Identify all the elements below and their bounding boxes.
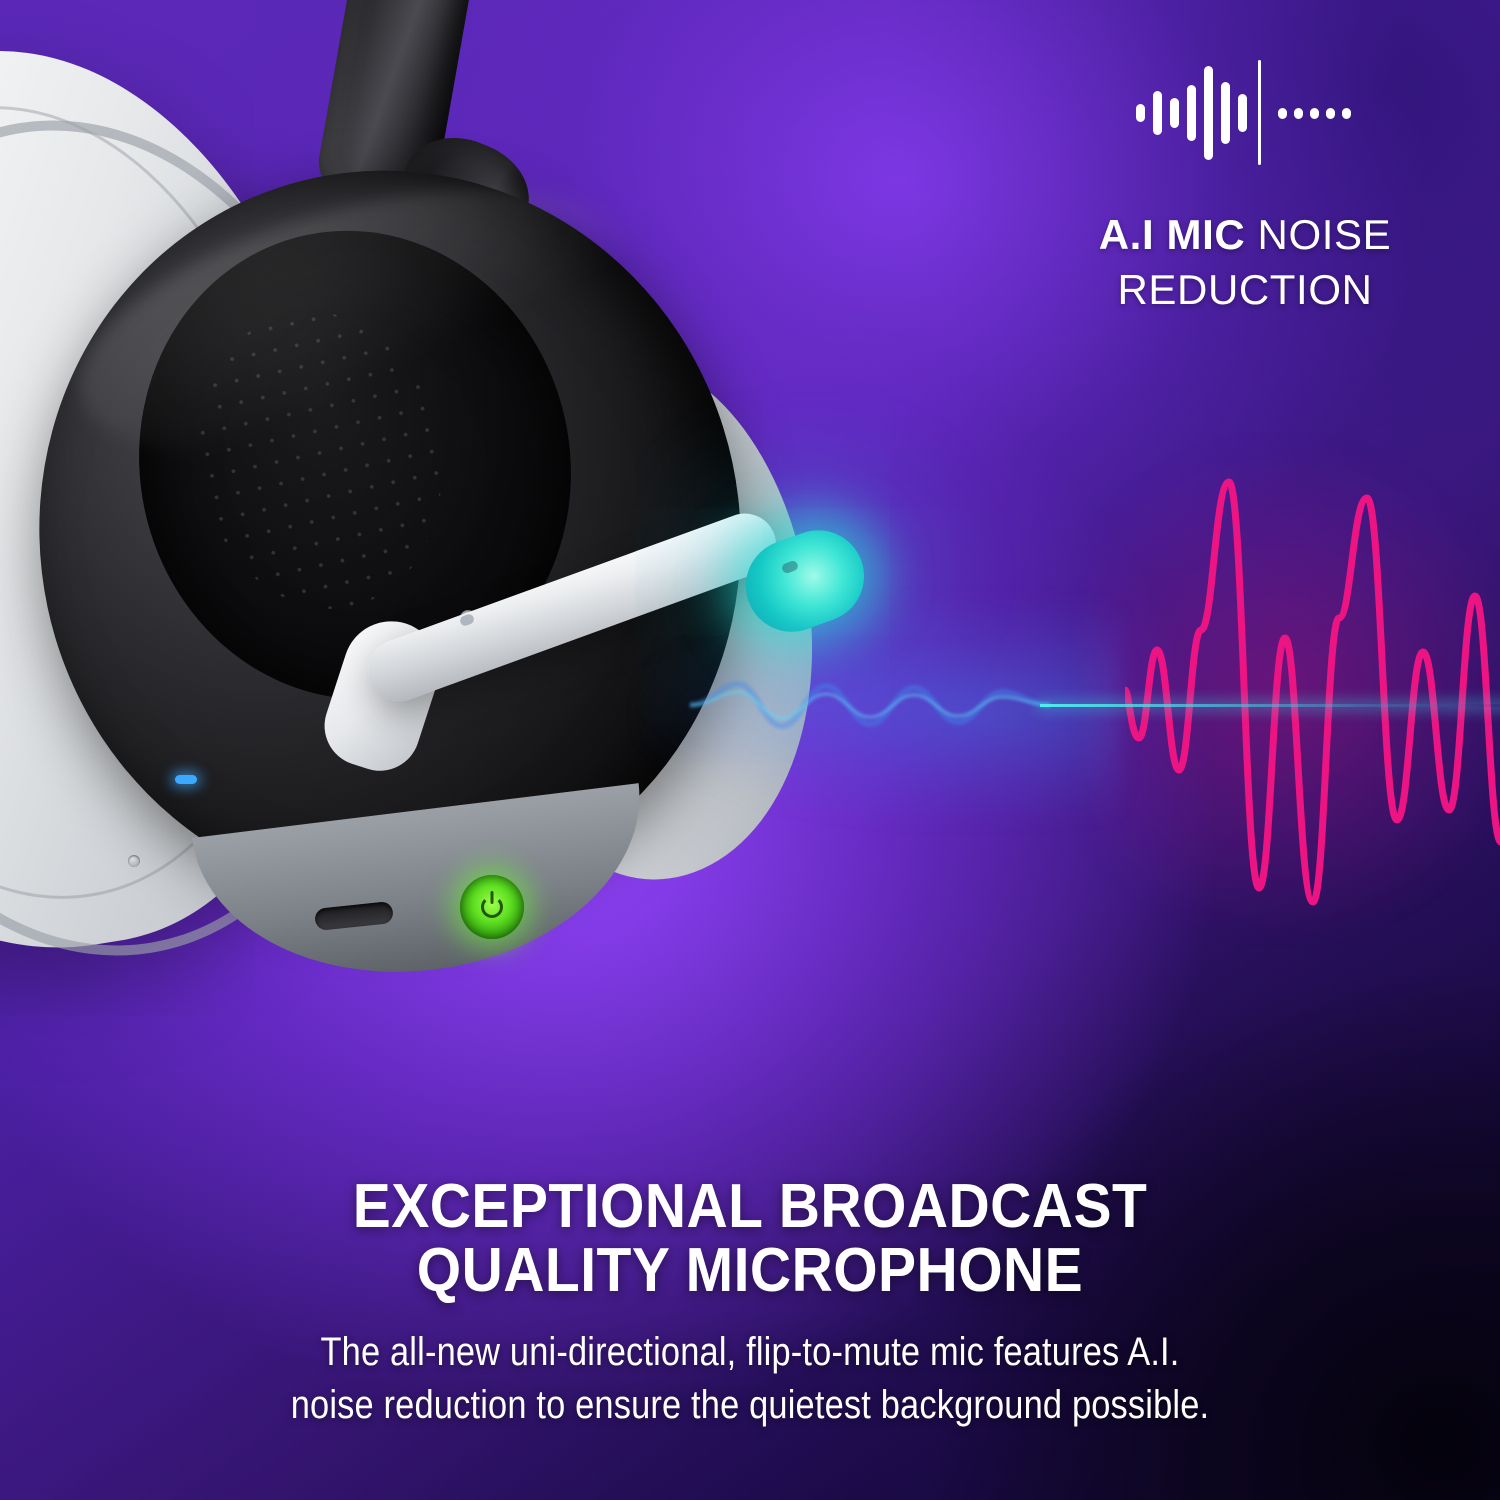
housing-screw-dot	[128, 855, 140, 867]
clean-audio-wave	[690, 640, 1050, 770]
headline: EXCEPTIONAL BROADCAST QUALITY MICROPHONE	[97, 1175, 1403, 1304]
clean-signal-beam	[1040, 704, 1500, 707]
body-line-2: noise reduction to ensure the quietest b…	[139, 1379, 1360, 1432]
audio-waveform-noise-reduction-icon	[1130, 60, 1360, 165]
body-copy: The all-new uni-directional, flip-to-mut…	[139, 1326, 1360, 1432]
badge-title: A.I MIC NOISE REDUCTION	[1010, 208, 1480, 317]
headset-product-image: L ACH	[0, 0, 1000, 1060]
badge-title-strong: A.I MIC	[1099, 211, 1246, 258]
ai-mic-noise-reduction-badge: A.I MIC NOISE REDUCTION	[1010, 60, 1480, 317]
power-icon	[481, 896, 503, 918]
product-feature-panel: L ACH	[0, 0, 1500, 1500]
noise-audio-waveform	[1125, 470, 1500, 910]
badge-title-rest: NOISE	[1245, 211, 1391, 258]
status-led	[175, 775, 197, 784]
power-button[interactable]	[460, 875, 524, 939]
headline-line-2: QUALITY MICROPHONE	[97, 1239, 1403, 1303]
feature-copy-block: EXCEPTIONAL BROADCAST QUALITY MICROPHONE…	[0, 1175, 1500, 1432]
badge-title-line2: REDUCTION	[1117, 266, 1372, 313]
headline-line-1: EXCEPTIONAL BROADCAST	[97, 1175, 1403, 1239]
body-line-1: The all-new uni-directional, flip-to-mut…	[139, 1326, 1360, 1379]
